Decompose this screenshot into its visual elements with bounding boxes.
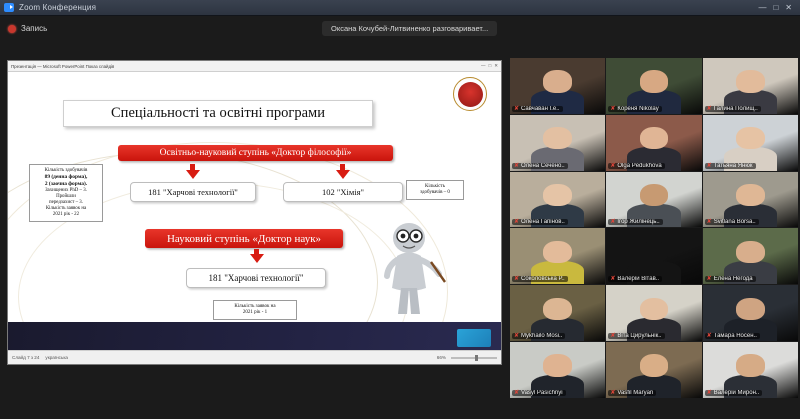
participant-name-badge: ✘Olga Pedukhova <box>608 163 664 169</box>
microphone-muted-icon: ✘ <box>514 390 519 396</box>
recording-label: Запись <box>21 24 47 33</box>
arrow-down-icon-1 <box>186 170 200 179</box>
powerpoint-statusbar: Слайд 7 з 24 українська 66% <box>8 350 501 364</box>
participant-name-badge: ✘Mykhailo Mosi.. <box>512 333 565 339</box>
participant-name-badge: ✘Кореня Nikolay <box>608 106 661 112</box>
powerpoint-close-button[interactable]: ✕ <box>494 63 498 69</box>
participant-tile[interactable]: ✘Ігор Жилінець.. <box>606 172 701 228</box>
window-title: Zoom Конференция <box>19 3 96 12</box>
participant-tile[interactable]: ✘Валерій Мирон.. <box>703 342 798 398</box>
microphone-muted-icon: ✘ <box>514 333 519 339</box>
participant-tile[interactable]: ✘Елена Негода <box>703 228 798 284</box>
microphone-muted-icon: ✘ <box>707 106 712 112</box>
recording-indicator[interactable]: Запись <box>8 24 47 33</box>
participant-tile[interactable]: ✘Кореня Nikolay <box>606 58 701 114</box>
participant-silhouette-head <box>736 70 765 92</box>
specialty-102-box: 102 "Хімія" <box>283 182 403 202</box>
participant-name-label: Svitlana Borsa.. <box>714 219 756 225</box>
window-controls: — □ ✕ <box>758 4 796 12</box>
participant-name-badge: ✘Валерій Мирон.. <box>705 390 763 396</box>
participant-name-badge: ✘Соколовська Р.. <box>512 276 568 282</box>
participant-silhouette-head <box>640 241 669 263</box>
powerpoint-window-controls: — □ ✕ <box>481 63 498 69</box>
participant-name-label: Олена Сечено.. <box>521 163 565 169</box>
participant-tile[interactable]: ✘Галина Полищ.. <box>703 58 798 114</box>
slide-title: Спеціальності та освітні програми <box>63 100 373 127</box>
participant-silhouette-head <box>543 127 572 149</box>
participant-silhouette-head <box>736 354 765 376</box>
meeting-bottom-strip <box>0 402 800 419</box>
microphone-muted-icon: ✘ <box>707 219 712 225</box>
participant-name-label: Віта Цирульнік.. <box>617 333 661 339</box>
participant-tile[interactable]: ✘Mykhailo Mosi.. <box>510 285 605 341</box>
chemistry-applicants-note: Кількість здобувачів – 0 <box>406 180 464 200</box>
participant-name-label: Тамара Носен.. <box>714 333 757 339</box>
participant-name-badge: ✘Віта Цирульнік.. <box>608 333 664 339</box>
participant-tile[interactable]: ✘Соколовська Р.. <box>510 228 605 284</box>
participant-name-label: Елена Негода <box>714 276 753 282</box>
participant-tile[interactable]: ✘Валерій Вітав.. <box>606 228 701 284</box>
microphone-muted-icon: ✘ <box>610 276 615 282</box>
participant-name-badge: ✘Ігор Жилінець.. <box>608 219 662 225</box>
active-speaker-banner: Оксана Кочубей-Литвиненко разговаривает.… <box>322 21 497 36</box>
participant-tile[interactable]: ✘Vasyl Pasichnyi <box>510 342 605 398</box>
microphone-muted-icon: ✘ <box>514 163 519 169</box>
participant-name-badge: ✘Татьяна Янюк <box>705 163 756 169</box>
microphone-muted-icon: ✘ <box>610 333 615 339</box>
specialty-181-box: 181 "Харчові технології" <box>130 182 256 202</box>
participant-silhouette-head <box>736 184 765 206</box>
microphone-muted-icon: ✘ <box>514 276 519 282</box>
microphone-muted-icon: ✘ <box>514 219 519 225</box>
microphone-muted-icon: ✘ <box>610 163 615 169</box>
participant-silhouette-head <box>640 354 669 376</box>
participant-tile[interactable]: ✘Тамара Носен.. <box>703 285 798 341</box>
participant-tile[interactable]: ✘Татьяна Янюк <box>703 115 798 171</box>
participant-silhouette-head <box>543 70 572 92</box>
participant-video-grid: ✘Савчаван І.е..✘Кореня Nikolay✘Галина По… <box>510 58 798 398</box>
participant-name-badge: ✘Валерій Вітав.. <box>608 276 662 282</box>
participant-name-label: Mykhailo Mosi.. <box>521 333 562 339</box>
participant-name-badge: ✘Галина Полищ.. <box>705 106 761 112</box>
slide-footer-band <box>8 322 501 350</box>
mascot-character-icon <box>375 216 449 316</box>
participant-name-label: Галина Полищ.. <box>714 106 758 112</box>
participant-name-label: Савчаван І.е.. <box>521 106 560 112</box>
participant-silhouette-head <box>736 127 765 149</box>
arrow-down-icon-3 <box>250 254 264 263</box>
participant-silhouette-head <box>543 354 572 376</box>
participant-silhouette-head <box>736 241 765 263</box>
maximize-button[interactable]: □ <box>773 4 778 12</box>
participant-silhouette-head <box>736 298 765 320</box>
active-speaker-text: Оксана Кочубей-Литвиненко разговаривает.… <box>331 24 488 33</box>
arrow-down-icon-2 <box>336 170 350 179</box>
powerpoint-title: Презентація — Microsoft PowerPoint Показ… <box>11 64 114 69</box>
presentation-slide: Спеціальності та освітні програми Освітн… <box>8 72 501 350</box>
microphone-muted-icon: ✘ <box>610 219 615 225</box>
participant-name-label: Татьяна Янюк <box>714 163 753 169</box>
university-logo-emblem <box>458 82 483 107</box>
doctor-applicants-note: Кількість заявок на 2021 рік - 1 <box>213 300 297 320</box>
participant-name-badge: ✘Vasyl Pasichnyi <box>512 390 566 396</box>
slide-footer-chip <box>457 329 491 347</box>
participant-name-label: Соколовська Р.. <box>521 276 565 282</box>
zoom-controls: 66% <box>437 355 497 360</box>
participant-silhouette-head <box>640 70 669 92</box>
microphone-muted-icon: ✘ <box>707 333 712 339</box>
participant-silhouette-head <box>543 241 572 263</box>
microphone-muted-icon: ✘ <box>610 106 615 112</box>
participant-tile[interactable]: ✘Савчаван І.е.. <box>510 58 605 114</box>
participant-name-label: Vasfil Maryan <box>617 390 653 396</box>
phd-note-line-2: 89 (денна форма), <box>45 174 88 180</box>
phd-note-line-8: 2021 рік - 22 <box>32 212 100 218</box>
window-titlebar: Zoom Конференция — □ ✕ <box>0 0 800 16</box>
participant-name-badge: ✘Елена Негода <box>705 276 756 282</box>
participant-silhouette-head <box>640 184 669 206</box>
chem-note-line-2: здобувачів – 0 <box>409 190 461 196</box>
slide-number-label: Слайд 7 з 24 <box>12 355 39 360</box>
shared-screen-powerpoint[interactable]: Презентація — Microsoft PowerPoint Показ… <box>7 60 502 365</box>
specialty-181-doctor-box: 181 "Харчові технології" <box>186 268 326 288</box>
participant-name-badge: ✘Олена Гапінов.. <box>512 219 568 225</box>
participant-tile[interactable]: ✘Олена Гапінов.. <box>510 172 605 228</box>
close-button[interactable]: ✕ <box>785 4 792 12</box>
phd-note-line-3: 2 (заочна форма). <box>45 181 87 187</box>
minimize-button[interactable]: — <box>758 4 766 12</box>
participant-name-label: Olga Pedukhova <box>617 163 661 169</box>
participant-silhouette-head <box>640 298 669 320</box>
doctor-of-science-banner: Науковий ступінь «Доктор наук» <box>145 229 343 248</box>
participant-tile[interactable]: ✘Олена Сечено.. <box>510 115 605 171</box>
zoom-meeting-window: Zoom Конференция — □ ✕ Запись Оксана Коч… <box>0 0 800 419</box>
participant-name-label: Ігор Жилінець.. <box>617 219 659 225</box>
zoom-app-icon <box>4 3 14 12</box>
participant-name-badge: ✘Олена Сечено.. <box>512 163 568 169</box>
powerpoint-minimize-button[interactable]: — <box>481 63 486 69</box>
participant-name-badge: ✘Svitlana Borsa.. <box>705 219 759 225</box>
participant-tile[interactable]: ✘Olga Pedukhova <box>606 115 701 171</box>
phd-degree-banner: Освітньо-науковий ступінь «Доктор філосо… <box>118 145 393 161</box>
participant-name-badge: ✘Савчаван І.е.. <box>512 106 563 112</box>
powerpoint-maximize-button[interactable]: □ <box>489 63 492 69</box>
microphone-muted-icon: ✘ <box>707 390 712 396</box>
microphone-muted-icon: ✘ <box>610 390 615 396</box>
university-logo-icon <box>453 77 487 111</box>
zoom-slider[interactable] <box>451 357 497 359</box>
microphone-muted-icon: ✘ <box>514 106 519 112</box>
participant-tile[interactable]: ✘Vasfil Maryan <box>606 342 701 398</box>
phd-statistics-note: Кількість здобувачів 89 (денна форма), 2… <box>29 164 103 222</box>
participant-name-label: Валерій Вітав.. <box>617 276 659 282</box>
participant-silhouette-head <box>543 298 572 320</box>
participant-name-badge: ✘Тамара Носен.. <box>705 333 760 339</box>
zoom-level-label: 66% <box>437 355 446 360</box>
participant-name-label: Vasyl Pasichnyi <box>521 390 563 396</box>
participant-silhouette-head <box>543 184 572 206</box>
microphone-muted-icon: ✘ <box>707 163 712 169</box>
participant-tile[interactable]: ✘Svitlana Borsa.. <box>703 172 798 228</box>
language-label: українська <box>45 355 68 360</box>
participant-name-badge: ✘Vasfil Maryan <box>608 390 656 396</box>
doctor-note-line-2: 2021 рік - 1 <box>216 310 294 316</box>
participant-name-label: Валерій Мирон.. <box>714 390 760 396</box>
participant-name-label: Кореня Nikolay <box>617 106 658 112</box>
participant-tile[interactable]: ✘Віта Цирульнік.. <box>606 285 701 341</box>
participant-silhouette-head <box>640 127 669 149</box>
participant-name-label: Олена Гапінов.. <box>521 219 565 225</box>
recording-dot-icon <box>8 25 16 33</box>
powerpoint-titlebar: Презентація — Microsoft PowerPoint Показ… <box>8 61 501 72</box>
microphone-muted-icon: ✘ <box>707 276 712 282</box>
